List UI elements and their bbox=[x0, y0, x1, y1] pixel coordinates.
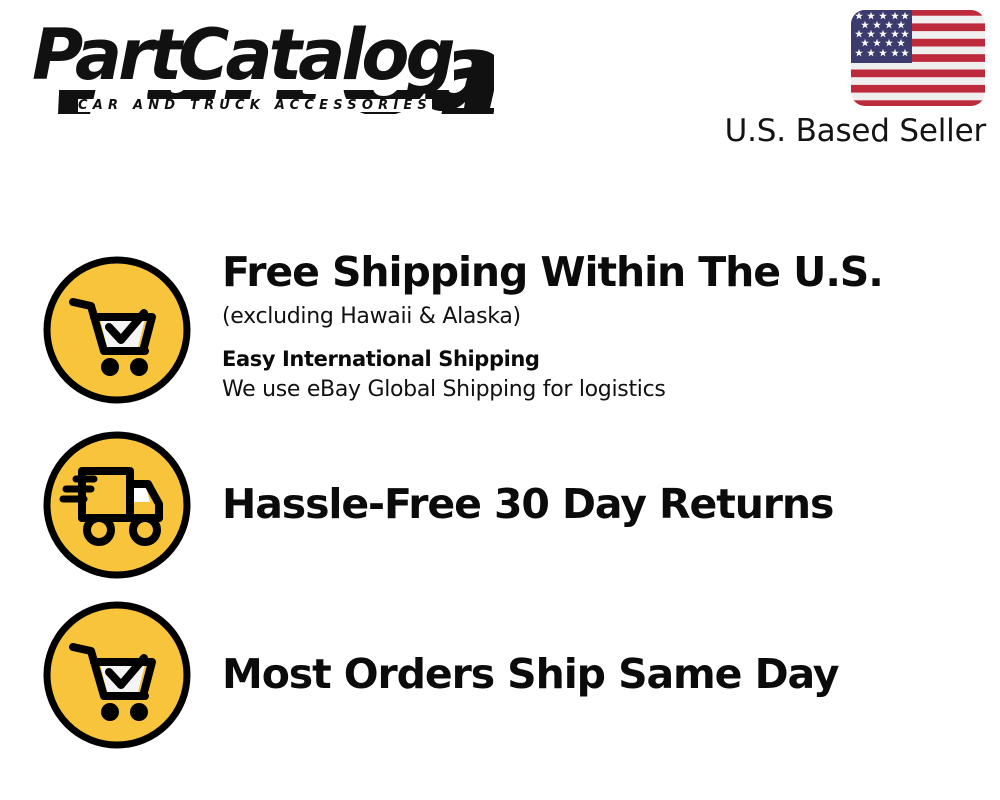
feature-row: Free Shipping Within The U.S. (excluding… bbox=[0, 240, 1000, 420]
feature-heading: Hassle-Free 30 Day Returns bbox=[222, 483, 980, 526]
logo-underline-stroke bbox=[441, 108, 494, 114]
feature-subtext-secondary: We use eBay Global Shipping for logistic… bbox=[222, 375, 980, 405]
feature-text: Most Orders Ship Same Day bbox=[222, 653, 1000, 696]
delivery-truck-icon bbox=[42, 430, 192, 580]
us-based-seller-label: U.S. Based Seller bbox=[706, 114, 986, 148]
feature-text: Hassle-Free 30 Day Returns bbox=[222, 483, 1000, 526]
feature-row: Most Orders Ship Same Day bbox=[0, 590, 1000, 760]
us-flag-icon bbox=[850, 8, 986, 108]
feature-heading: Most Orders Ship Same Day bbox=[222, 653, 980, 696]
feature-text: Free Shipping Within The U.S. (excluding… bbox=[222, 251, 1000, 404]
feature-heading: Free Shipping Within The U.S. bbox=[222, 251, 980, 294]
feature-list: Free Shipping Within The U.S. (excluding… bbox=[0, 240, 1000, 760]
us-based-seller-badge: U.S. Based Seller bbox=[706, 8, 986, 148]
logo-wordmark: PartCatalog bbox=[30, 22, 454, 90]
logo-tagline: CAR AND TRUCK ACCESSORIES bbox=[78, 99, 432, 112]
shopping-cart-check-icon bbox=[42, 255, 192, 405]
feature-subtext: (excluding Hawaii & Alaska) bbox=[222, 302, 980, 332]
feature-subtext-strong: Easy International Shipping bbox=[222, 346, 980, 373]
shopping-cart-check-icon bbox=[42, 600, 192, 750]
feature-row: Hassle-Free 30 Day Returns bbox=[0, 420, 1000, 590]
brand-logo: PartCatalog CAR AND TRUCK ACCESSORIES bbox=[24, 22, 494, 114]
